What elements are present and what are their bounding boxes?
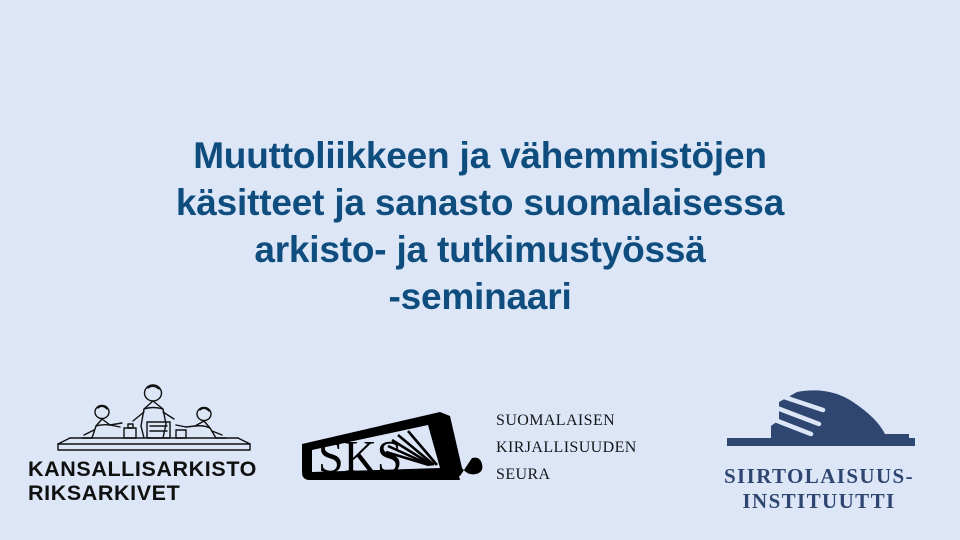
title-line-4: -seminaari [0, 273, 960, 320]
kansallisarkisto-wordmark-line-2: RIKSARKIVET [28, 481, 180, 505]
title-line-1: Muuttoliikkeen ja vähemmistöjen [0, 132, 960, 179]
national-archives-figures-emblem [40, 382, 268, 452]
sks-wordmark-line-3: Seura [496, 458, 637, 485]
kansallisarkisto-wordmark-line-1: KANSALLISARKISTO [28, 457, 257, 481]
title-line-3: arkisto- ja tutkimustyössä [0, 226, 960, 273]
seminar-title-slide: Muuttoliikkeen ja vähemmistöjen käsittee… [0, 0, 960, 540]
sks-wordmark-line-2: Kirjallisuuden [496, 431, 637, 458]
logo-siirtolaisuusinstituutti: SIIRTOLAISUUS- INSTITUUTTI [706, 380, 932, 514]
siirtolaisuus-wordmark-line-2: INSTITUUTTI [706, 489, 932, 514]
partner-logo-strip: KANSALLISARKISTO RIKSARKIVET [0, 380, 960, 515]
logo-sks: SKS Suomalaisen Kirjallisuuden Seura [300, 404, 700, 494]
kantele-mark: SKS [300, 410, 486, 490]
title-line-2: käsitteet ja sanasto suomalaisessa [0, 179, 960, 226]
migratory-bird-wing-mark [719, 380, 919, 460]
page-title: Muuttoliikkeen ja vähemmistöjen käsittee… [0, 132, 960, 320]
kansallisarkisto-wordmark: KANSALLISARKISTO RIKSARKIVET [28, 458, 280, 505]
siirtolaisuus-wordmark: SIIRTOLAISUUS- INSTITUUTTI [706, 464, 932, 514]
sks-wordmark-line-1: Suomalaisen [496, 404, 637, 431]
siirtolaisuus-wordmark-line-1: SIIRTOLAISUUS- [706, 464, 932, 489]
logo-kansallisarkisto: KANSALLISARKISTO RIKSARKIVET [28, 382, 280, 505]
sks-wordmark: Suomalaisen Kirjallisuuden Seura [496, 404, 637, 485]
